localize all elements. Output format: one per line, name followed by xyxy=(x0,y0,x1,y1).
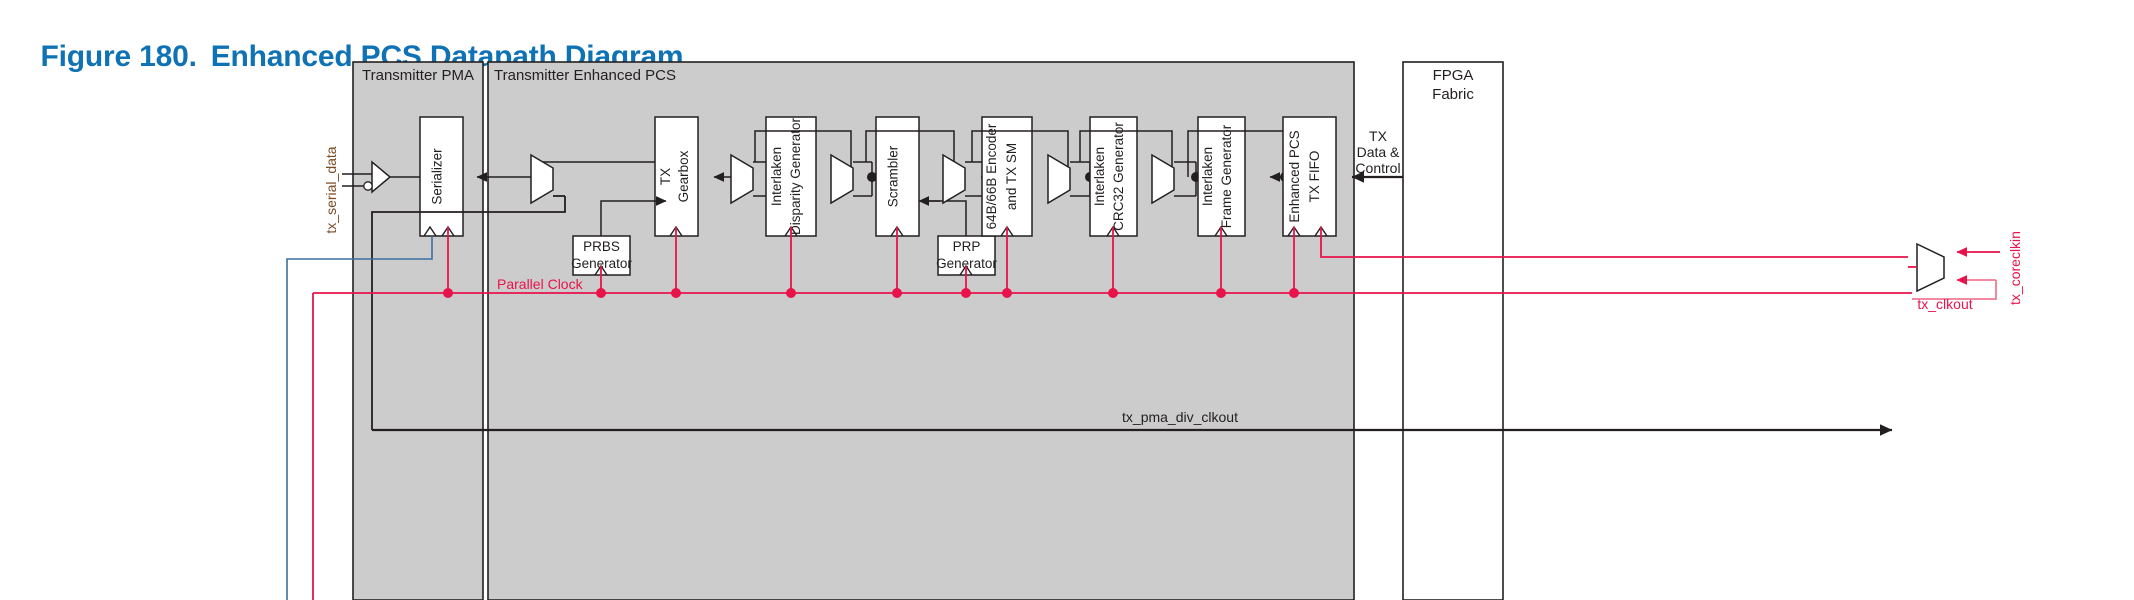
buffer-inverting-bubble-icon xyxy=(364,182,372,190)
enhanced-pcs-tx-fifo-label-line2: TX FIFO xyxy=(1307,151,1322,203)
interlaken-disparity-generator-label-line1: Interlaken xyxy=(769,147,784,206)
clock-junction-dot-prp xyxy=(961,288,971,298)
fpga-fabric-label-line1: FPGA xyxy=(1433,67,1474,84)
block-tx-gearbox: TX Gearbox xyxy=(655,117,698,236)
interlaken-frame-generator-label-line1: Interlaken xyxy=(1200,147,1215,206)
mux-clock-select: tx_coreclkin tx_clkout xyxy=(1908,231,2023,312)
fpga-fabric-container xyxy=(1403,62,1503,600)
tx-gearbox-label-line2: Gearbox xyxy=(676,150,691,202)
block-interlaken-disparity-generator: Interlaken Disparity Generator xyxy=(766,117,816,236)
transmitter-enhanced-pcs-label: Transmitter Enhanced PCS xyxy=(494,67,676,84)
block-scrambler: Scrambler xyxy=(876,117,919,236)
scrambler-label: Scrambler xyxy=(886,145,901,207)
tx-data-control-label-line3: Control xyxy=(1355,160,1400,176)
section-fpga-fabric: FPGA Fabric xyxy=(1403,62,1503,600)
interlaken-frame-generator-label-line2: Frame Generator xyxy=(1219,124,1234,228)
enhanced-pcs-datapath-diagram: Transmitter PMA Transmitter Enhanced PCS… xyxy=(0,0,2134,600)
tx-coreclkin-label: tx_coreclkin xyxy=(2007,231,2023,305)
block-serializer: Serializer xyxy=(420,117,463,236)
tx-data-control-group: TX Data & Control xyxy=(1352,128,1403,177)
clock-junction-dot-encoder xyxy=(1002,288,1012,298)
interlaken-crc32-generator-label-line2: CRC32 Generator xyxy=(1111,122,1126,231)
tx-serial-data-label: tx_serial_data xyxy=(323,146,339,233)
encoder-label-line2: and TX SM xyxy=(1004,143,1019,210)
block-interlaken-frame-generator: Interlaken Frame Generator xyxy=(1198,117,1245,236)
mux-icon-clock-select xyxy=(1917,244,1944,291)
clock-junction-dot-serializer xyxy=(443,288,453,298)
tx-data-control-label-line1: TX xyxy=(1369,128,1388,144)
interlaken-crc32-generator-label-line1: Interlaken xyxy=(1092,147,1107,206)
block-interlaken-crc32-generator: Interlaken CRC32 Generator xyxy=(1090,117,1137,236)
serializer-label: Serializer xyxy=(430,148,445,205)
tx-pma-div-clkout-label: tx_pma_div_clkout xyxy=(1122,409,1238,425)
prp-generator-label-line1: PRP xyxy=(953,239,981,254)
tx-clkout-label: tx_clkout xyxy=(1917,296,1972,312)
clock-junction-dot-gearbox xyxy=(671,288,681,298)
block-enhanced-pcs-tx-fifo: Enhanced PCS TX FIFO xyxy=(1283,117,1336,236)
parallel-clock-label: Parallel Clock xyxy=(497,276,584,292)
enhanced-pcs-tx-fifo-label-line1: Enhanced PCS xyxy=(1287,130,1302,222)
clock-junction-dot-disparity xyxy=(786,288,796,298)
tx-data-control-label-line2: Data & xyxy=(1357,144,1400,160)
encoder-label-line1: 64B/66B Encoder xyxy=(984,123,999,229)
clock-junction-dot-crc32 xyxy=(1108,288,1118,298)
fpga-fabric-label-line2: Fabric xyxy=(1432,86,1474,103)
transmitter-pma-label: Transmitter PMA xyxy=(362,67,474,84)
clock-junction-dot-scrambler xyxy=(892,288,902,298)
clock-junction-dot-frame xyxy=(1216,288,1226,298)
interlaken-disparity-generator-label-line2: Disparity Generator xyxy=(788,117,803,235)
block-64b-66b-encoder-and-tx-sm: 64B/66B Encoder and TX SM xyxy=(982,117,1032,236)
tx-gearbox-label-line1: TX xyxy=(658,168,673,185)
prbs-generator-label-line1: PRBS xyxy=(583,239,620,254)
clock-junction-dot-fifo xyxy=(1289,288,1299,298)
figure-page: Figure 180.Enhanced PCS Datapath Diagram… xyxy=(0,0,2134,600)
clock-junction-dot-prbs xyxy=(596,288,606,298)
